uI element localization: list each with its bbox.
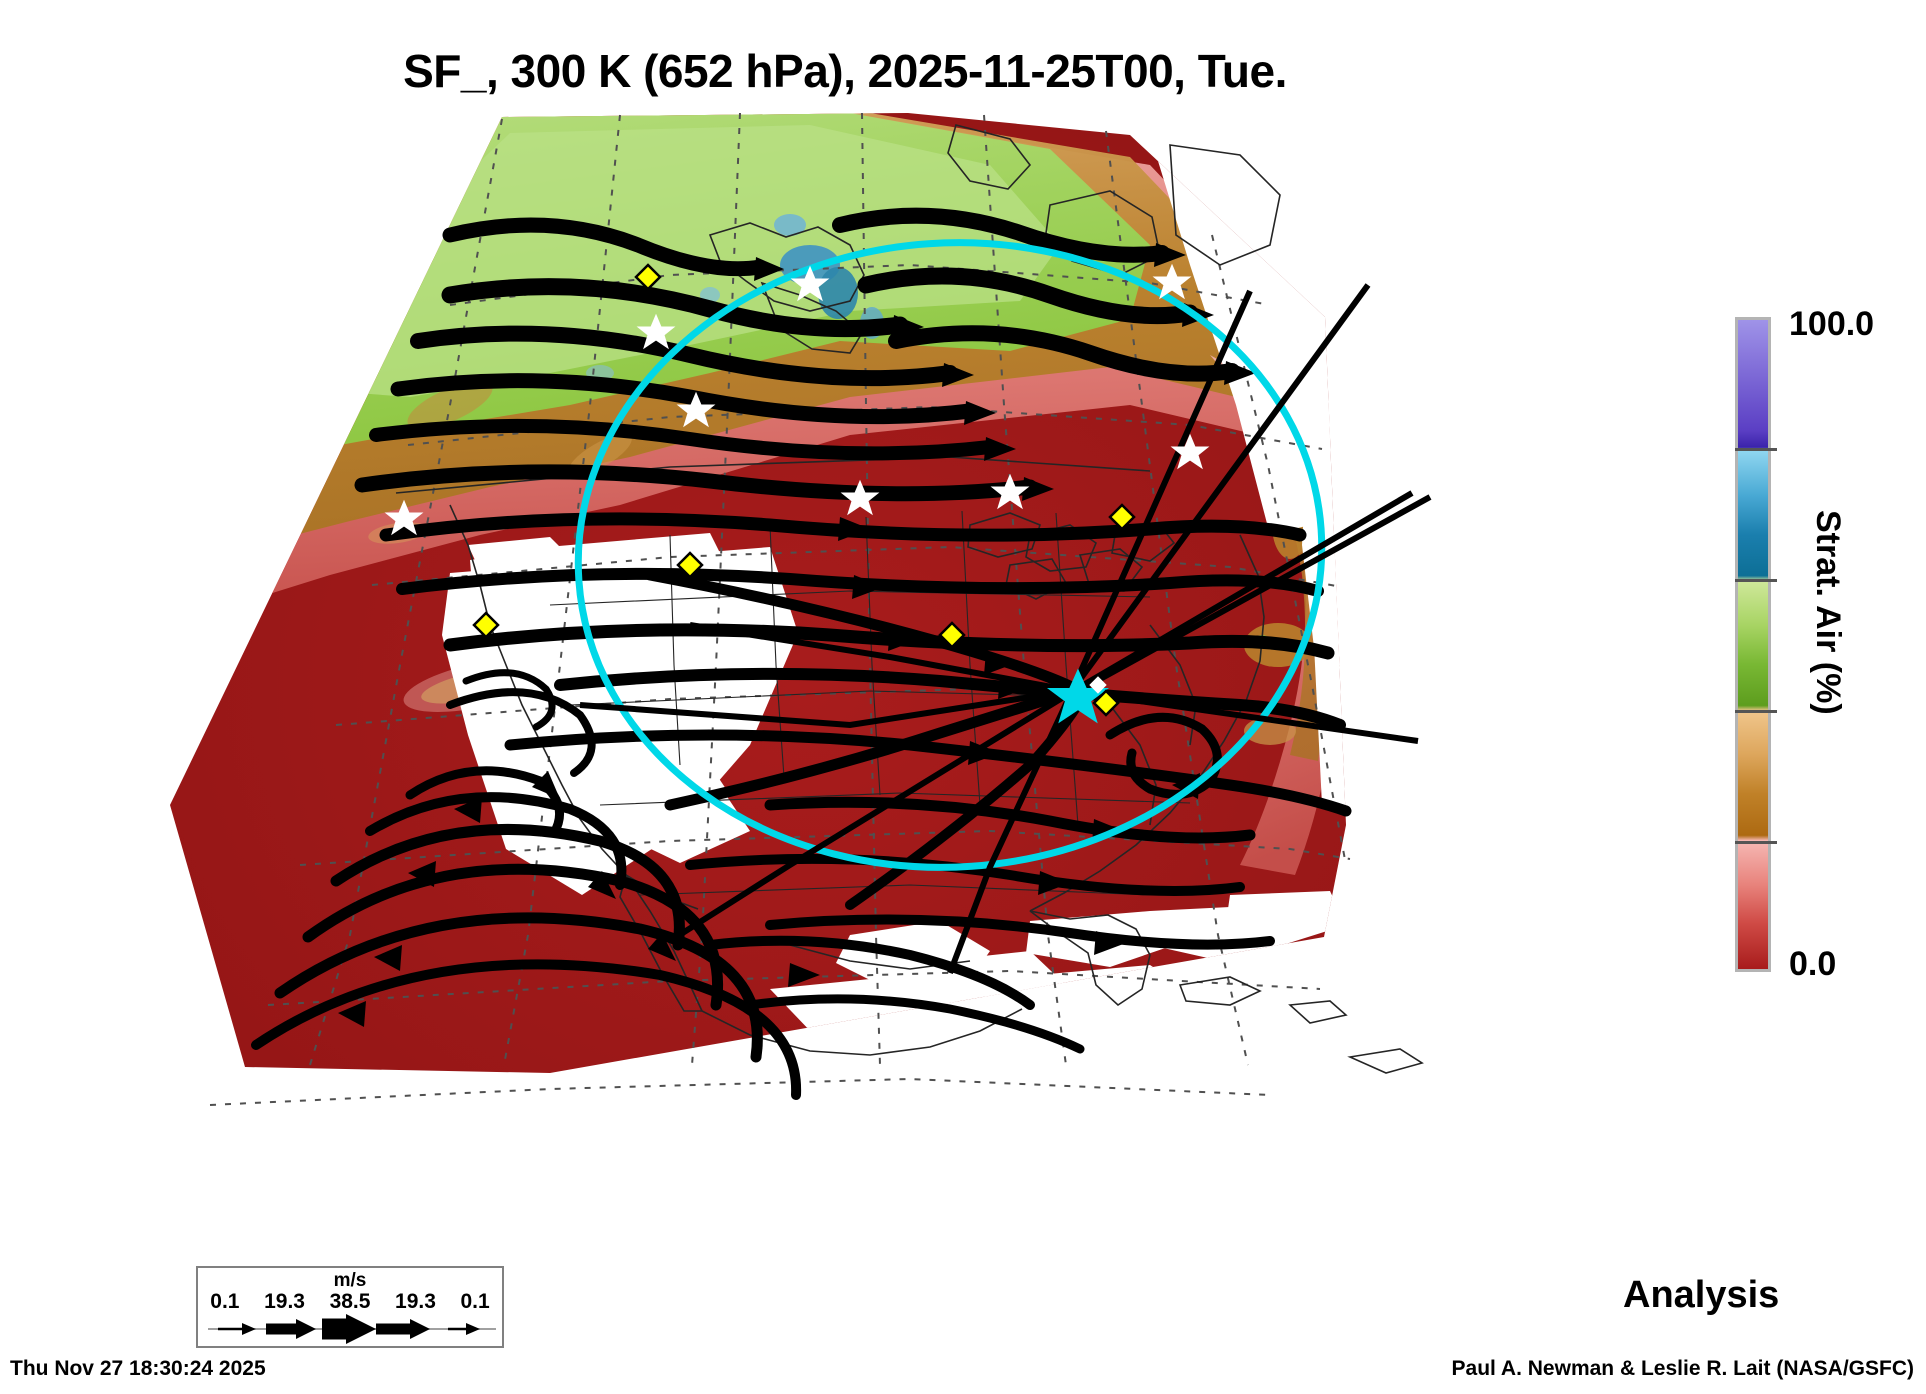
colorbar-gradient	[1735, 317, 1771, 972]
colorbar-tick-20	[1735, 841, 1777, 844]
colorbar-tick-80	[1735, 448, 1777, 451]
colorbar-axis-title: Strat. Air (%)	[1808, 510, 1847, 715]
wind-legend-value-4: 0.1	[461, 1290, 490, 1314]
wind-legend-value-3: 19.3	[395, 1290, 436, 1314]
wind-legend-arrow-scale	[204, 1312, 500, 1346]
generation-timestamp: Thu Nov 27 18:30:24 2025	[10, 1357, 266, 1381]
map-panel[interactable]	[150, 105, 1470, 1165]
colorbar-max-label: 100.0	[1789, 305, 1874, 344]
wind-legend-unit: m/s	[198, 1270, 502, 1292]
analysis-label: Analysis	[1623, 1274, 1779, 1317]
page-title: SF_, 300 K (652 hPa), 2025-11-25T00, Tue…	[0, 44, 1690, 98]
wind-speed-legend: m/s 0.1 19.3 38.5 19.3 0.1	[196, 1266, 504, 1348]
map-canvas[interactable]	[150, 105, 1470, 1165]
wind-legend-value-0: 0.1	[210, 1290, 239, 1314]
wind-legend-value-2: 38.5	[330, 1290, 371, 1314]
wind-legend-values: 0.1 19.3 38.5 19.3 0.1	[198, 1290, 502, 1314]
colorbar-min-label: 0.0	[1789, 945, 1836, 984]
colorbar-tick-60	[1735, 579, 1777, 582]
colorbar: 100.0 0.0 Strat. Air (%)	[1735, 305, 1925, 985]
author-credit: Paul A. Newman & Leslie R. Lait (NASA/GS…	[1452, 1357, 1914, 1381]
wind-legend-value-1: 19.3	[264, 1290, 305, 1314]
colorbar-tick-40	[1735, 710, 1777, 713]
